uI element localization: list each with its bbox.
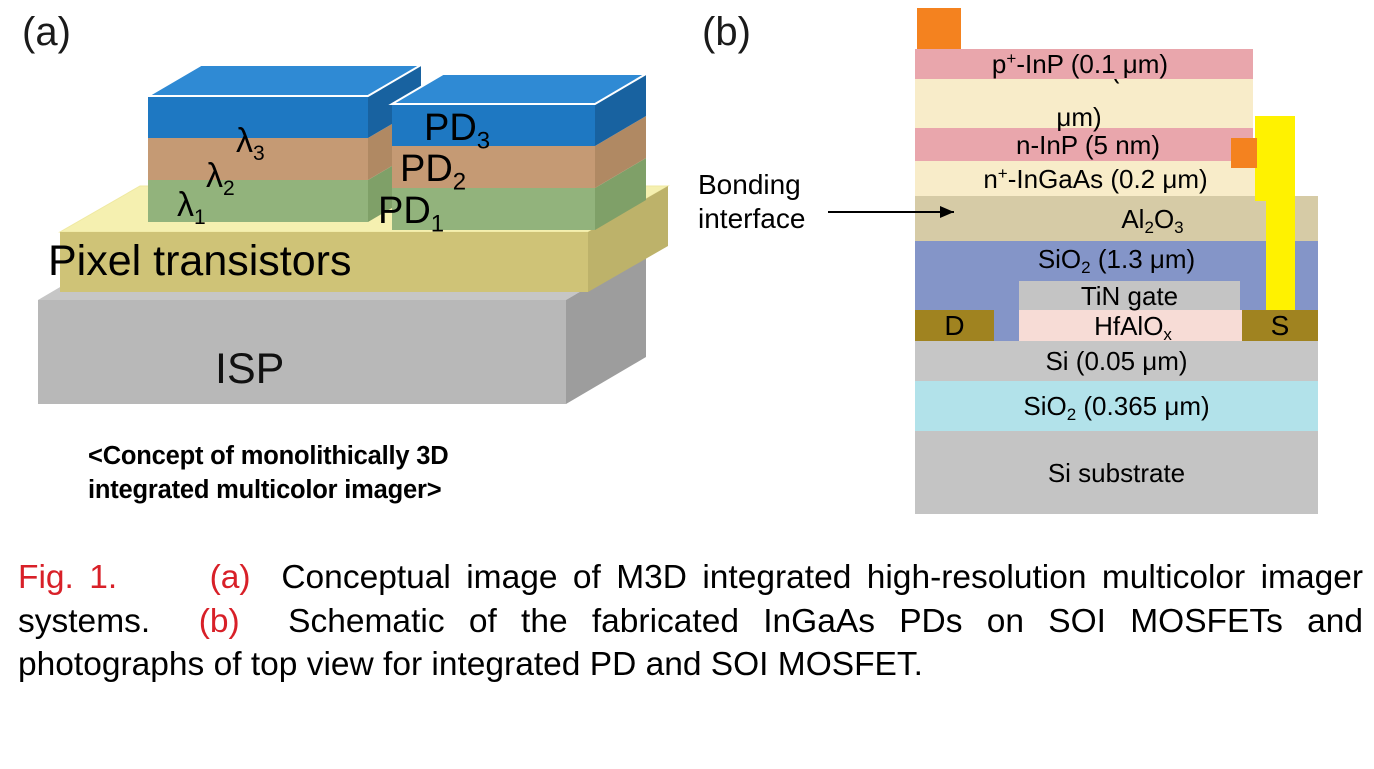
wavelength-label-2: λ2 (206, 157, 235, 201)
anode-pad-orange (917, 8, 961, 49)
wavelength-label-1: λ1 (177, 186, 206, 230)
bonding-interface-line1: Bonding (698, 168, 805, 202)
wavelength-label-3: λ3 (236, 122, 265, 166)
concept-caption-line1: <Concept of monolithically 3D (88, 440, 558, 474)
layer-p-inp: p+-InP (0.1 μm) (915, 49, 1253, 79)
caption-ref-a: (a) (210, 559, 251, 596)
panel-a: (a) (0, 0, 690, 530)
figure-caption: Fig. 1. (a) Conceptual image of M3D inte… (18, 556, 1363, 687)
caption-ref-b: (b) (199, 603, 240, 640)
concept-caption: <Concept of monolithically 3D integrated… (88, 440, 558, 507)
isp-label: ISP (215, 345, 284, 394)
bonding-interface-label: Bonding interface (698, 168, 805, 236)
caption-figure-number: Fig. 1. (18, 559, 117, 596)
pd-label-3: PD3 (424, 107, 490, 156)
bonding-interface-line2: interface (698, 202, 805, 236)
layer-p-inp-label: p+-InP (0.1 μm) (992, 51, 1168, 77)
cathode-electrode-yellow (1255, 116, 1295, 310)
via-pad-orange (1231, 138, 1257, 168)
panel-b: (b) Si substrate SiO2 (0.365 μm) Si (0.0… (690, 0, 1374, 530)
concept-caption-line2: integrated multicolor imager> (88, 474, 558, 508)
pixel-transistors-label: Pixel transistors (48, 237, 351, 286)
right-blue-front (392, 104, 595, 146)
pd-label-1: PD1 (378, 190, 444, 239)
isp-front-face (38, 300, 566, 404)
cathode-electrode-svg (690, 0, 1374, 530)
